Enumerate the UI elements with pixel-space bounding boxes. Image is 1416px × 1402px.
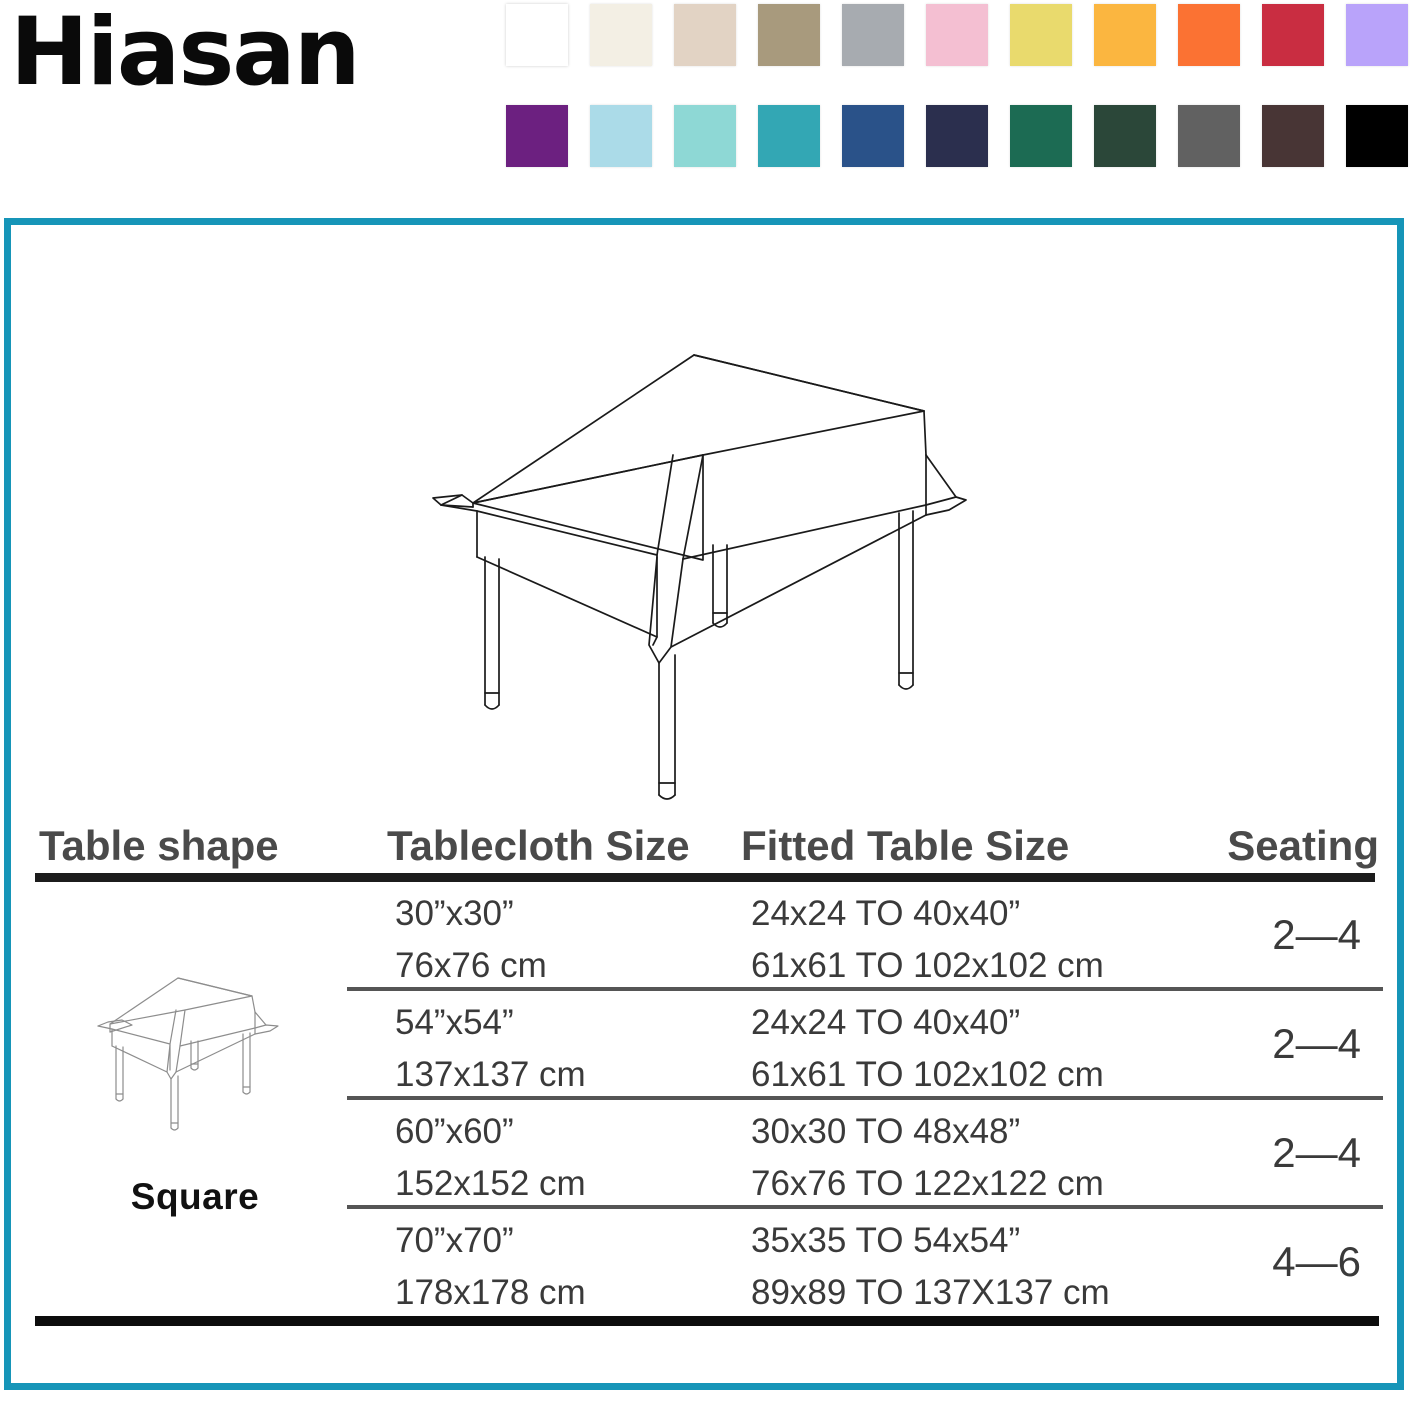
size-guide-panel: Table shape Tablecloth Size Fitted Table… [4, 218, 1404, 1390]
color-swatch-purple[interactable] [506, 105, 568, 167]
column-header-fitted-table-size: Fitted Table Size [741, 825, 1069, 867]
cell-tablecloth-size-inches: 70”x70” [395, 1223, 514, 1258]
color-swatch-white[interactable] [506, 4, 568, 66]
size-table-body: Square 30”x30”76x76 cm24x24 TO 40x40”61x… [35, 882, 1383, 1302]
table-row: 70”x70”178x178 cm35x35 TO 54x54”89x89 TO… [347, 1209, 1383, 1314]
cell-fitted-table-size-cm: 61x61 TO 102x102 cm [751, 1057, 1104, 1092]
cell-seating: 2—4 [1272, 914, 1361, 956]
color-swatch-gray[interactable] [842, 4, 904, 66]
cell-fitted-table-size-inches: 24x24 TO 40x40” [751, 896, 1020, 931]
cell-tablecloth-size-cm: 76x76 cm [395, 948, 547, 983]
brand-logo: Hiasan [10, 6, 359, 100]
cell-tablecloth-size-inches: 30”x30” [395, 896, 514, 931]
color-swatch-navy-blue[interactable] [842, 105, 904, 167]
color-swatch-lavender[interactable] [1346, 4, 1408, 66]
color-swatch-teal[interactable] [758, 105, 820, 167]
header-bar: Hiasan [0, 0, 1416, 200]
color-swatch-beige[interactable] [674, 4, 736, 66]
color-swatch-charcoal[interactable] [1178, 105, 1240, 167]
size-table-rows: 30”x30”76x76 cm24x24 TO 40x40”61x61 TO 1… [347, 882, 1383, 1314]
color-swatch-yellow[interactable] [1010, 4, 1072, 66]
square-table-thumbnail-icon [90, 966, 300, 1156]
footer-divider-rule [35, 1316, 1379, 1326]
table-row: 54”x54”137x137 cm24x24 TO 40x40”61x61 TO… [347, 991, 1383, 1100]
cell-tablecloth-size-cm: 137x137 cm [395, 1057, 586, 1092]
cell-tablecloth-size-inches: 54”x54” [395, 1005, 514, 1040]
cell-tablecloth-size-cm: 152x152 cm [395, 1166, 586, 1201]
color-swatch-row-1 [506, 4, 1412, 66]
cell-fitted-table-size-inches: 35x35 TO 54x54” [751, 1223, 1020, 1258]
color-swatch-aqua[interactable] [674, 105, 736, 167]
color-swatch-ivory[interactable] [590, 4, 652, 66]
cell-tablecloth-size-cm: 178x178 cm [395, 1275, 586, 1310]
cell-seating: 4—6 [1272, 1241, 1361, 1283]
size-table-header-row: Table shape Tablecloth Size Fitted Table… [35, 805, 1383, 867]
color-swatch-brown[interactable] [1262, 105, 1324, 167]
column-header-table-shape: Table shape [39, 825, 279, 867]
table-shape-label: Square [131, 1176, 259, 1218]
header-divider-rule [35, 873, 1375, 882]
size-table: Table shape Tablecloth Size Fitted Table… [35, 805, 1383, 1326]
column-header-seating: Seating [1227, 825, 1379, 867]
cell-seating: 2—4 [1272, 1023, 1361, 1065]
color-swatch-grid [506, 4, 1412, 174]
color-swatch-black[interactable] [1346, 105, 1408, 167]
color-swatch-row-2 [506, 105, 1412, 167]
color-swatch-red[interactable] [1262, 4, 1324, 66]
color-swatch-taupe[interactable] [758, 4, 820, 66]
cell-seating: 2—4 [1272, 1132, 1361, 1174]
color-swatch-pink[interactable] [926, 4, 988, 66]
color-swatch-emerald[interactable] [1010, 105, 1072, 167]
table-row: 60”x60”152x152 cm30x30 TO 48x48”76x76 TO… [347, 1100, 1383, 1209]
cell-fitted-table-size-inches: 24x24 TO 40x40” [751, 1005, 1020, 1040]
table-shape-cell: Square [35, 882, 355, 1302]
cell-fitted-table-size-cm: 61x61 TO 102x102 cm [751, 948, 1104, 983]
square-table-illustration-icon [421, 345, 981, 805]
cell-fitted-table-size-cm: 76x76 TO 122x122 cm [751, 1166, 1104, 1201]
color-swatch-gold[interactable] [1094, 4, 1156, 66]
cell-fitted-table-size-inches: 30x30 TO 48x48” [751, 1114, 1020, 1149]
color-swatch-light-blue[interactable] [590, 105, 652, 167]
table-row: 30”x30”76x76 cm24x24 TO 40x40”61x61 TO 1… [347, 882, 1383, 991]
color-swatch-dark-navy[interactable] [926, 105, 988, 167]
color-swatch-orange[interactable] [1178, 4, 1240, 66]
cell-tablecloth-size-inches: 60”x60” [395, 1114, 514, 1149]
column-header-tablecloth-size: Tablecloth Size [387, 825, 690, 867]
color-swatch-hunter-green[interactable] [1094, 105, 1156, 167]
cell-fitted-table-size-cm: 89x89 TO 137X137 cm [751, 1275, 1110, 1310]
